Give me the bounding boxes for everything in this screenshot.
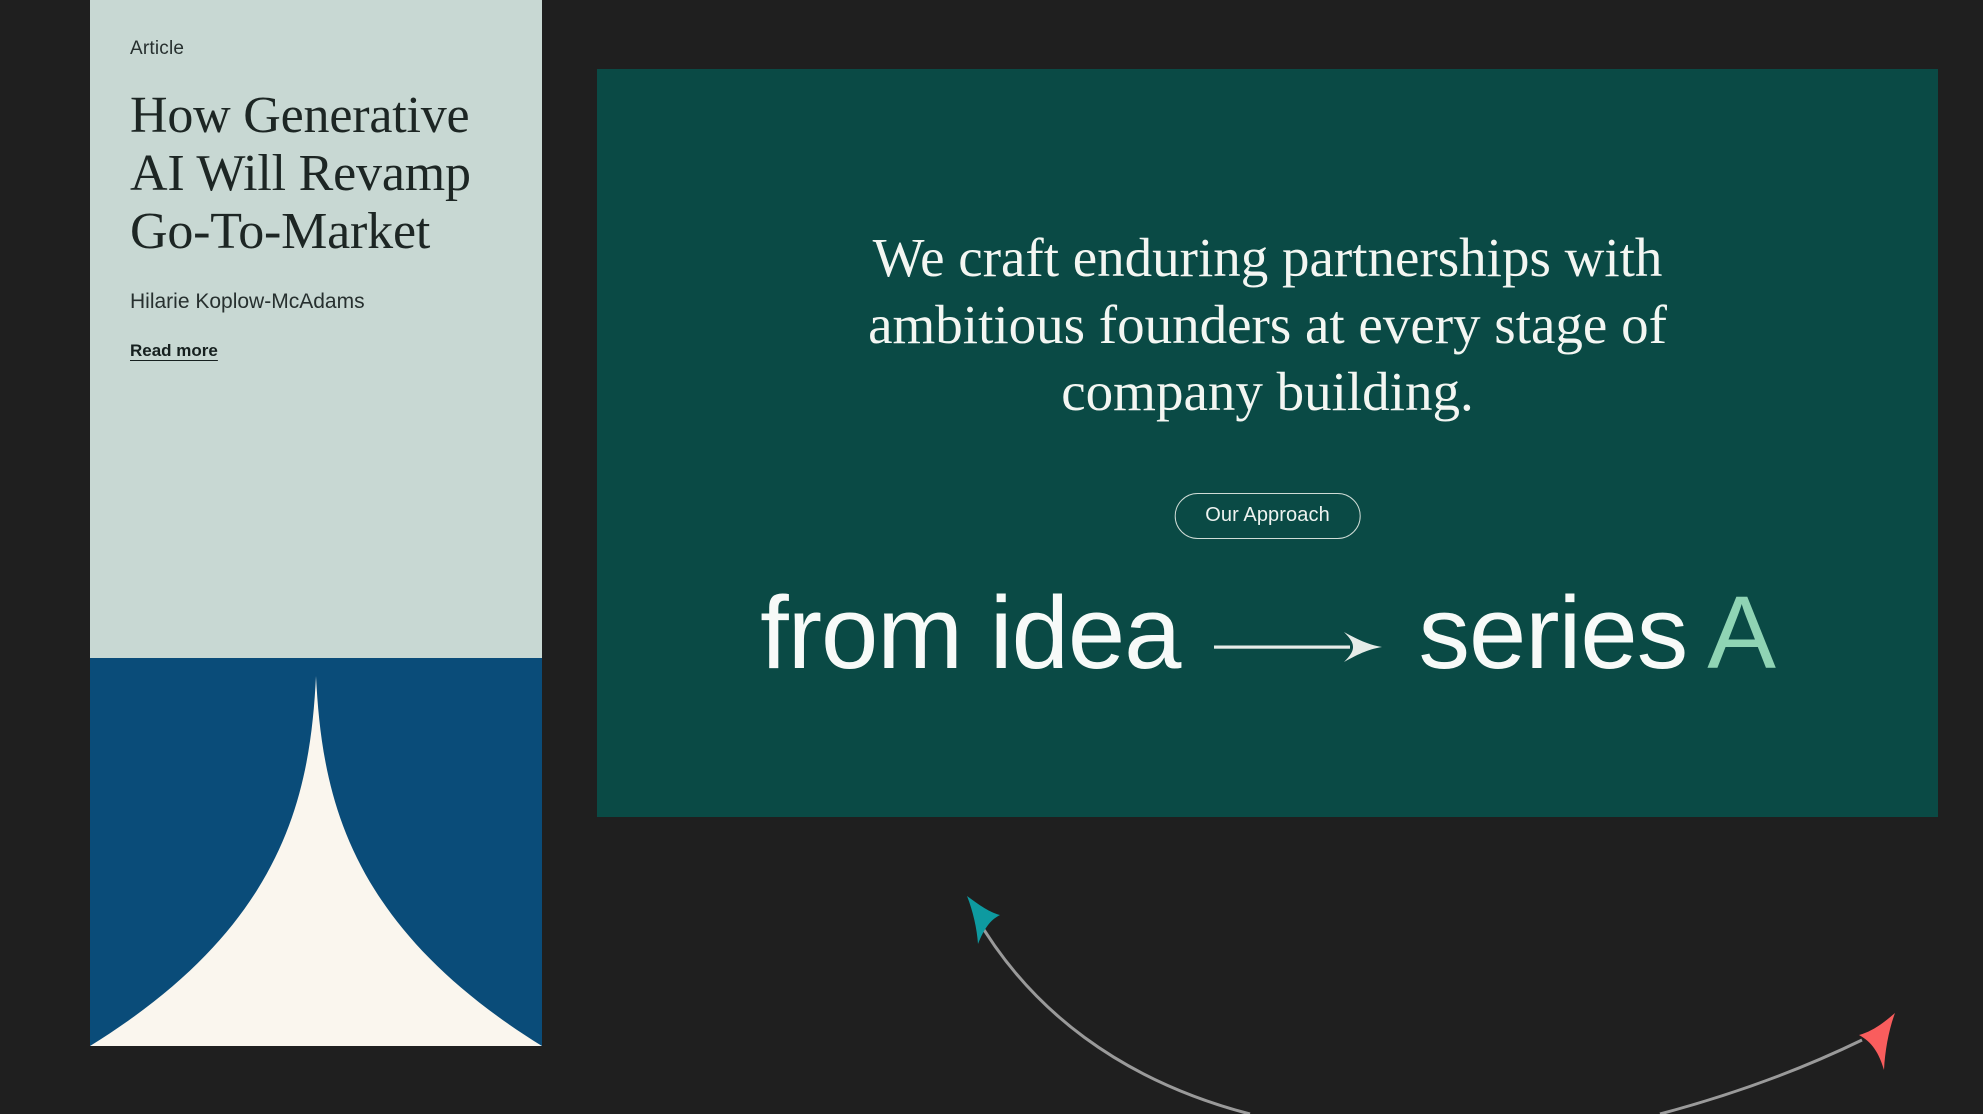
journey-from-label: from idea — [760, 581, 1180, 684]
article-eyebrow-label: Article — [130, 38, 502, 61]
coral-trail-path — [1660, 1040, 1862, 1114]
right-arrow-glyph — [1214, 627, 1384, 667]
hero-statement: We craft enduring partnerships with ambi… — [768, 224, 1768, 425]
article-title: How Generative AI Will Revamp Go-To-Mark… — [130, 87, 502, 262]
article-card[interactable]: Article How Generative AI Will Revamp Go… — [90, 0, 542, 1046]
coral-arrow-icon — [1859, 1013, 1895, 1070]
our-approach-button[interactable]: Our Approach — [1174, 493, 1361, 539]
journey-to-label: series — [1418, 581, 1687, 684]
page-root: Article How Generative AI Will Revamp Go… — [0, 0, 1983, 1114]
article-card-artwork — [90, 658, 542, 1046]
article-card-text-area: Article How Generative AI Will Revamp Go… — [90, 0, 542, 658]
teal-pointer-trail — [967, 896, 1250, 1114]
journey-line: from idea series A — [597, 581, 1938, 684]
hero-panel: We craft enduring partnerships with ambi… — [597, 69, 1938, 817]
article-author: Hilarie Koplow-McAdams — [130, 288, 502, 315]
teal-trail-path — [975, 915, 1250, 1114]
teal-arrow-icon — [967, 896, 1000, 944]
right-arrow-icon — [1214, 627, 1384, 667]
journey-accent-label: A — [1707, 581, 1775, 684]
spire-illustration — [90, 658, 542, 1046]
read-more-link[interactable]: Read more — [130, 341, 218, 361]
coral-pointer-trail — [1660, 1013, 1895, 1114]
